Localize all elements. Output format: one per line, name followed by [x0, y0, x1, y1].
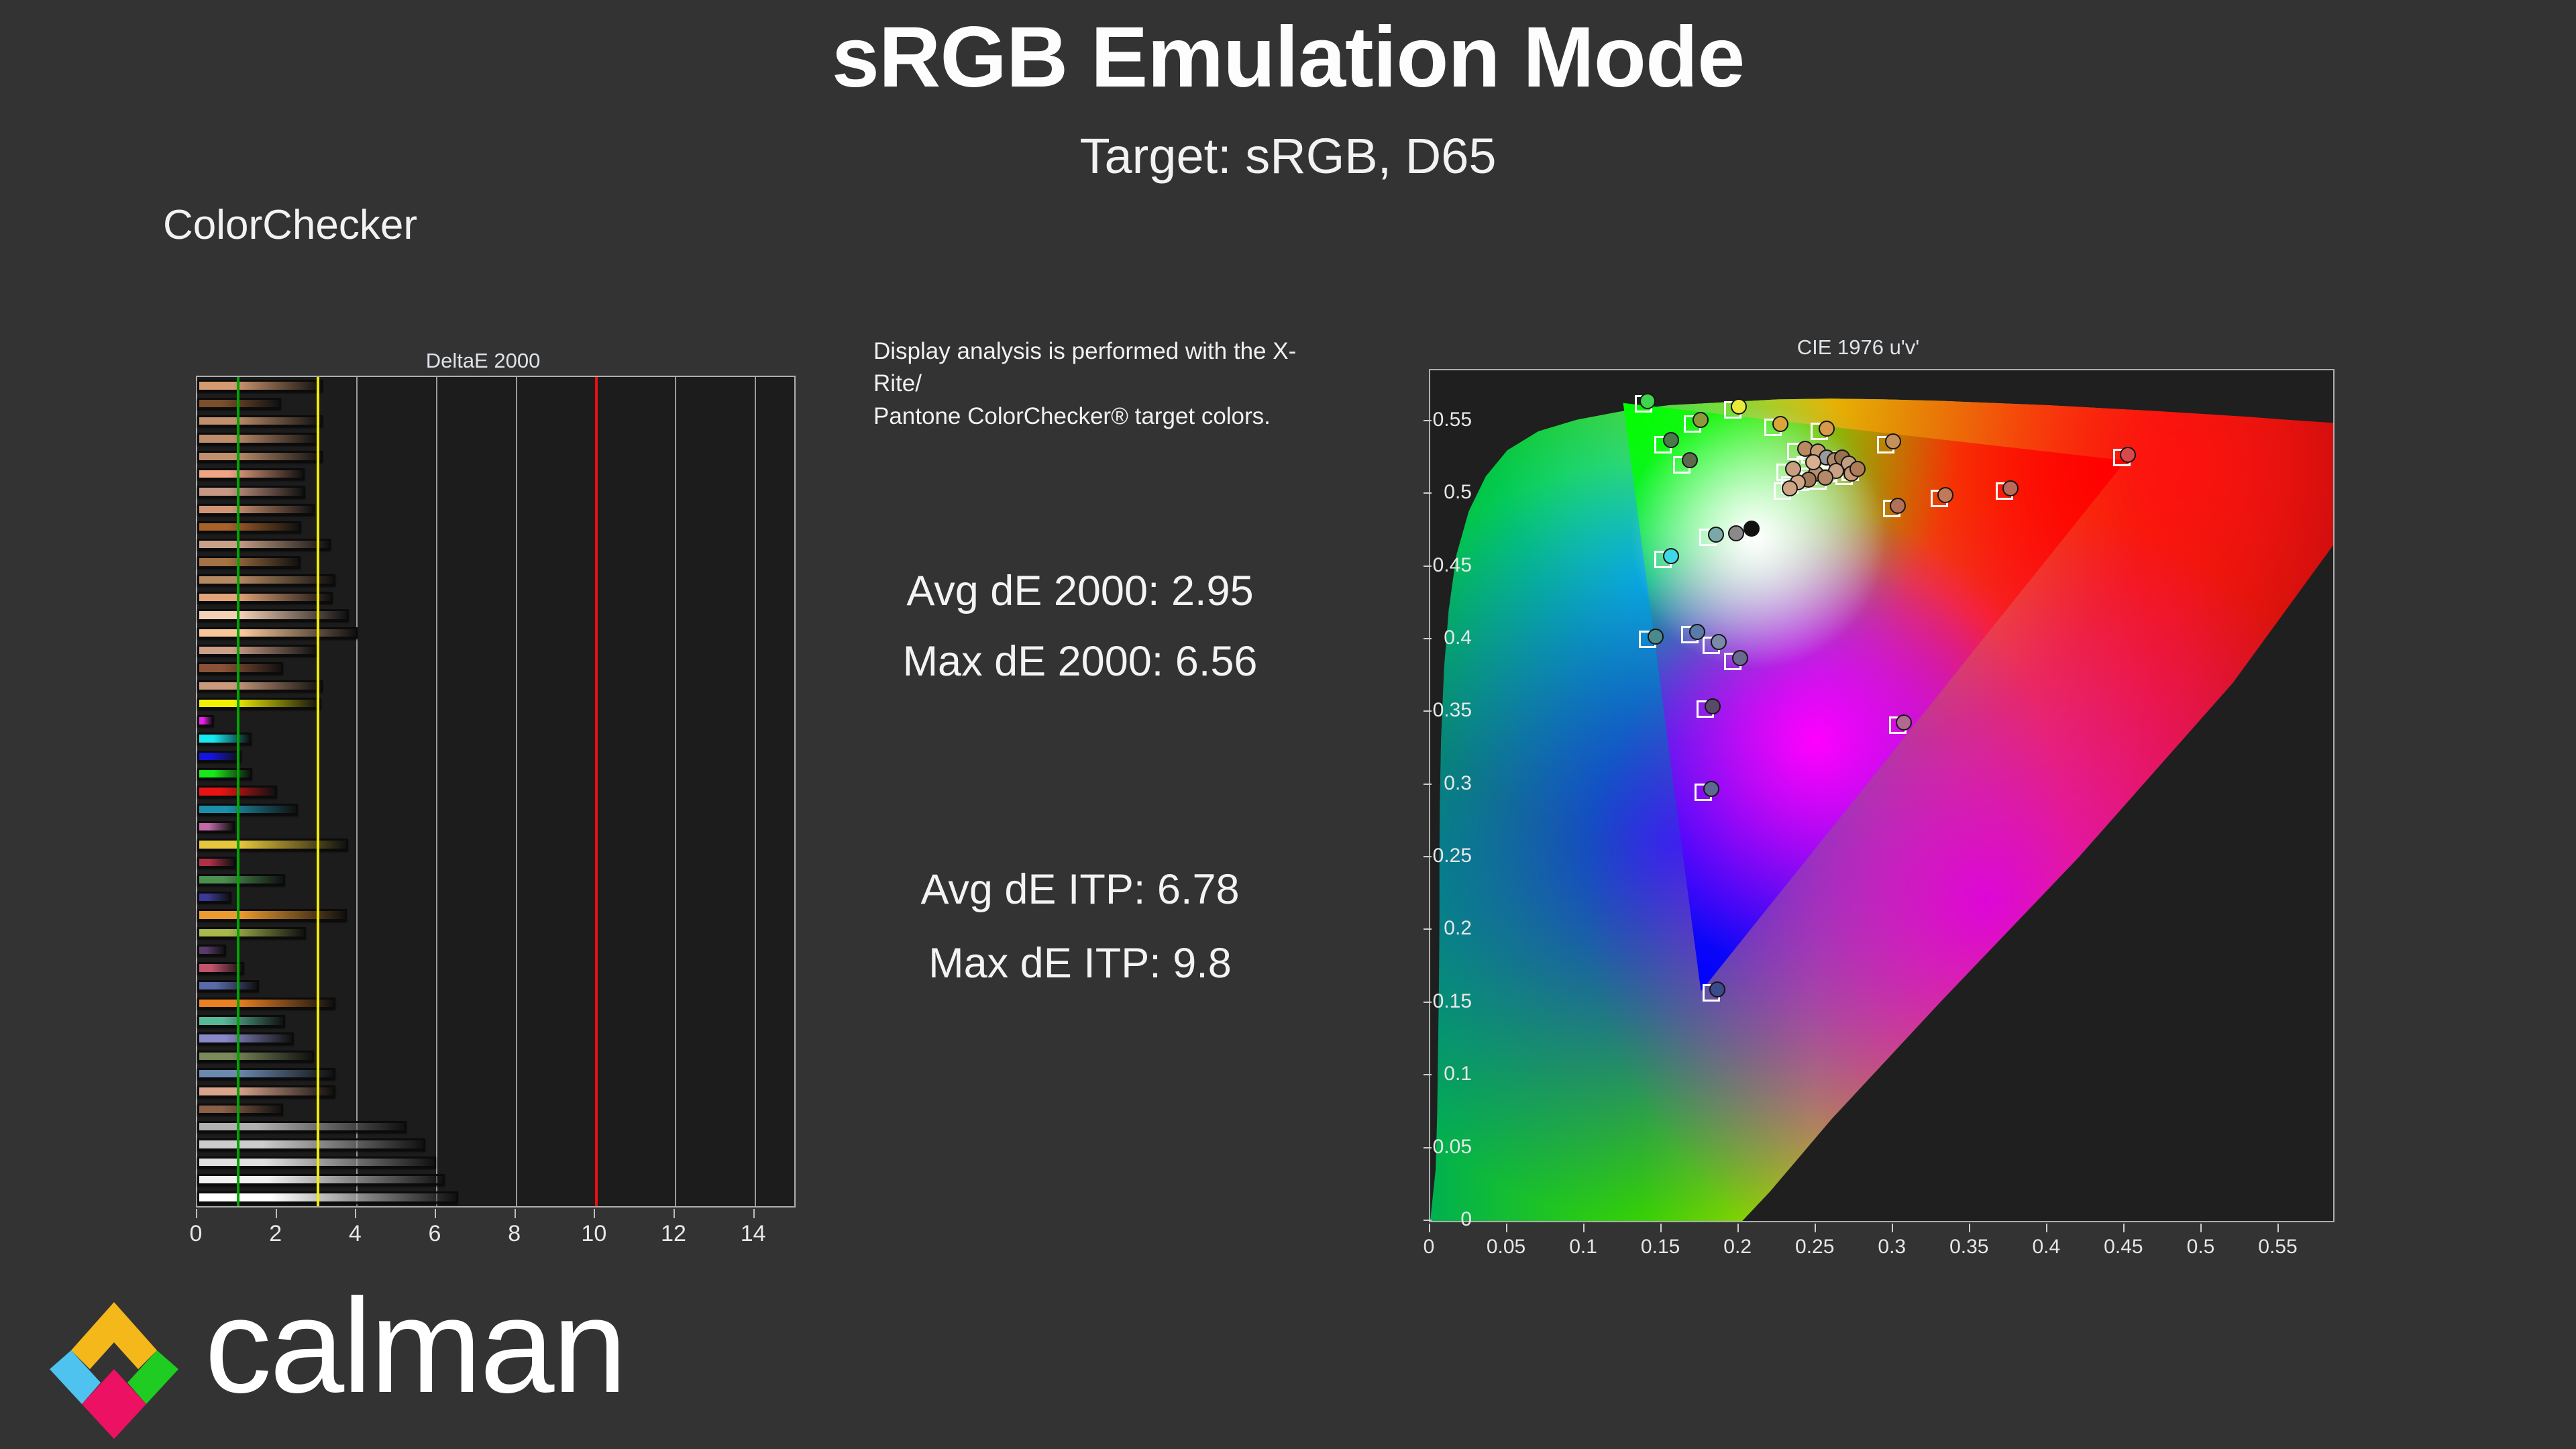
cie-y-axis-tick — [1424, 928, 1432, 930]
deltae-bar — [197, 627, 358, 639]
cie-chart-title: CIE 1976 u'v' — [1382, 335, 2334, 360]
deltae-axis-tick — [196, 1209, 197, 1218]
cie-measurement-point — [1640, 393, 1656, 409]
deltae-bar — [197, 1032, 294, 1044]
deltae-gridline — [516, 377, 517, 1206]
deltae-bar — [197, 539, 331, 550]
deltae-bar — [197, 821, 235, 833]
deltae-gridline — [675, 377, 676, 1206]
cie-y-axis-label: 0.2 — [1444, 917, 1472, 940]
cie-x-axis-tick — [1892, 1224, 1893, 1232]
cie-y-axis-tick — [1424, 784, 1432, 785]
deltae-bar — [197, 556, 301, 568]
deltae-bar — [197, 433, 319, 444]
avg-deitp-stat: Avg dE ITP: 6.78 — [771, 865, 1389, 914]
cie-y-axis-label: 0 — [1460, 1208, 1472, 1231]
deltae-axis-label: 8 — [508, 1221, 521, 1247]
cie-measurement-point — [1648, 629, 1664, 645]
cie-y-axis-tick — [1424, 420, 1432, 421]
deltae-axis-label: 10 — [581, 1221, 606, 1247]
deltae-bar — [197, 1138, 425, 1150]
cie-measurement-point — [1682, 452, 1698, 468]
analysis-note-line1: Display analysis is performed with the X… — [873, 335, 1343, 400]
deltae-bar — [197, 380, 323, 391]
cie-y-axis-tick — [1424, 1074, 1432, 1075]
deltae-bar — [197, 945, 226, 956]
deltae-bar — [197, 662, 283, 674]
cie-x-axis-label: 0.25 — [1795, 1236, 1834, 1258]
deltae-bar — [197, 804, 298, 815]
deltae-bar — [197, 998, 335, 1009]
cie-y-axis-label: 0.5 — [1444, 481, 1472, 504]
deltae-bar — [197, 574, 335, 586]
yellow-threshold — [317, 377, 319, 1206]
avg-de2000-stat: Avg dE 2000: 2.95 — [771, 567, 1389, 615]
deltae-bar — [197, 980, 259, 991]
deltae-chart-title: DeltaE 2000 — [161, 349, 805, 373]
cie-y-axis-label: 0.15 — [1433, 990, 1472, 1013]
deltae-2000-chart: DeltaE 2000 02468101214 — [161, 349, 805, 1241]
deltae-axis-tick — [355, 1209, 356, 1218]
deltae-plot-area — [196, 376, 796, 1207]
deltae-bar — [197, 592, 333, 603]
deltae-bar — [197, 715, 214, 727]
cie-measurement-point — [1782, 480, 1798, 496]
cie-measurement-point — [1728, 525, 1744, 541]
deltae-axis-tick — [515, 1209, 516, 1218]
cie-y-axis-label: 0.1 — [1444, 1063, 1472, 1085]
cie-x-axis-label: 0.45 — [2104, 1236, 2143, 1258]
cie-measurement-point — [1708, 527, 1724, 543]
cie-x-axis-tick — [2046, 1224, 2047, 1232]
colorchecker-section-label: ColorChecker — [163, 201, 417, 249]
cie-y-axis-tick — [1424, 638, 1432, 639]
cie-y-axis-label: 0.25 — [1433, 845, 1472, 867]
deltae-bar — [197, 451, 323, 462]
cie-x-axis-tick — [1583, 1224, 1585, 1232]
deltae-gridline — [356, 377, 358, 1206]
cie-measurement-point — [1785, 461, 1801, 477]
red-threshold — [595, 377, 598, 1206]
deltae-axis-tick — [276, 1209, 277, 1218]
cie-gamut-svg — [1430, 370, 2333, 1221]
cie-measurement-point — [1689, 624, 1705, 640]
deltae-bar — [197, 1121, 407, 1132]
cie-x-axis-tick — [1737, 1224, 1739, 1232]
cie-y-axis-tick — [1424, 492, 1432, 494]
cie-y-axis-tick — [1424, 1147, 1432, 1148]
deltae-bar — [197, 909, 347, 920]
deltae-bar — [197, 521, 301, 533]
deltae-axis-tick — [674, 1209, 675, 1218]
cie-measurement-point — [1896, 714, 1912, 731]
green-threshold — [237, 377, 239, 1206]
cie-x-axis-label: 0.1 — [1569, 1236, 1597, 1258]
max-de2000-stat: Max dE 2000: 6.56 — [771, 637, 1389, 686]
deltae-axis-label: 4 — [349, 1221, 362, 1247]
cie-y-axis-label: 0.35 — [1433, 699, 1472, 722]
cie-y-axis-label: 0.55 — [1433, 409, 1472, 431]
deltae-bar — [197, 680, 323, 692]
cie-measurement-point — [1703, 781, 1719, 797]
deltae-axis-label: 12 — [661, 1221, 686, 1247]
deltae-axis-tick — [594, 1209, 595, 1218]
deltae-axis-label: 2 — [269, 1221, 282, 1247]
cie-x-axis-tick — [1815, 1224, 1816, 1232]
page-title: sRGB Emulation Mode — [0, 15, 2576, 101]
deltae-axis-label: 6 — [429, 1221, 441, 1247]
deltae-axis-tick — [435, 1209, 436, 1218]
deltae-bar — [197, 892, 231, 903]
cie-plot-area — [1429, 369, 2334, 1222]
deltae-bar — [197, 415, 323, 427]
cie-y-axis-tick — [1424, 1002, 1432, 1003]
cie-x-axis-label: 0.3 — [1878, 1236, 1906, 1258]
cie-x-axis-tick — [1506, 1224, 1507, 1232]
cie-x-axis-tick — [2123, 1224, 2125, 1232]
deltae-bar — [197, 486, 305, 497]
deltae-bar — [197, 1015, 285, 1026]
deltae-gridline — [436, 377, 437, 1206]
deltae-bar — [197, 698, 321, 709]
cie-measurement-point — [1805, 454, 1821, 470]
cie-x-axis-tick — [2200, 1224, 2202, 1232]
deltae-bar — [197, 857, 236, 868]
deltae-bar — [197, 751, 241, 762]
cie-measurement-point — [1819, 421, 1835, 437]
deltae-axis-label: 14 — [741, 1221, 766, 1247]
page-subtitle: Target: sRGB, D65 — [0, 131, 2576, 181]
cie-x-axis-label: 0.5 — [2187, 1236, 2215, 1258]
cie-y-axis-tick — [1424, 1220, 1432, 1221]
deltae-bar — [197, 1104, 283, 1115]
analysis-note: Display analysis is performed with the X… — [873, 335, 1343, 433]
deltae-bar — [197, 1068, 335, 1079]
cie-y-axis-tick — [1424, 856, 1432, 857]
deltae-bar — [197, 839, 348, 850]
deltae-bar — [197, 927, 306, 938]
deltae-x-axis: 02468101214 — [196, 1209, 796, 1210]
deltae-axis-label: 0 — [190, 1221, 203, 1247]
cie-y-axis-label: 0.4 — [1444, 627, 1472, 649]
cie-y-axis-label: 0.05 — [1433, 1136, 1472, 1159]
cie-measurement-point — [1890, 498, 1906, 514]
deltae-bar — [197, 768, 252, 780]
cie-x-axis-label: 0.35 — [1949, 1236, 1988, 1258]
cie-x-axis-label: 0.15 — [1641, 1236, 1680, 1258]
cie-x-axis-label: 0.2 — [1723, 1236, 1752, 1258]
calman-logo-text: calman — [205, 1279, 625, 1413]
cie-x-axis-label: 0.05 — [1487, 1236, 1525, 1258]
cie-x-axis-tick — [1969, 1224, 1970, 1232]
cie-y-axis-label: 0.45 — [1433, 554, 1472, 577]
deltae-bar — [197, 1085, 335, 1097]
analysis-note-line2: Pantone ColorChecker® target colors. — [873, 400, 1343, 433]
deltae-bar — [197, 1051, 314, 1062]
cie-y-axis-label: 0.3 — [1444, 772, 1472, 795]
deltae-gridline — [755, 377, 756, 1206]
cie-measurement-point — [1743, 521, 1760, 537]
deltae-bar — [197, 504, 315, 515]
cie-x-axis-label: 0.4 — [2032, 1236, 2060, 1258]
cie-y-axis-tick — [1424, 710, 1432, 712]
cie-measurement-point — [1705, 698, 1721, 714]
cie-x-axis-tick — [2277, 1224, 2279, 1232]
cie-measurement-point — [2120, 447, 2136, 463]
calman-logo: calman — [34, 1291, 704, 1439]
cie-y-axis-tick — [1424, 566, 1432, 567]
cie-measurement-point — [1663, 432, 1679, 448]
cie-x-axis-label: 0.55 — [2258, 1236, 2297, 1258]
cie-1976-chart: CIE 1976 u'v' 00.050.10.150.20.250.30.35… — [1382, 335, 2388, 1248]
cie-x-axis-tick — [1660, 1224, 1662, 1232]
calman-diamond-icon — [34, 1291, 195, 1439]
deltae-bar — [197, 609, 349, 621]
cie-measurement-point — [1693, 412, 1709, 428]
deltae-bar — [197, 733, 252, 744]
deltae-bar — [197, 468, 305, 480]
deltae-bar — [197, 874, 285, 885]
cie-measurement-point — [2002, 480, 2019, 496]
max-deitp-stat: Max dE ITP: 9.8 — [771, 939, 1389, 987]
deltae-bar — [197, 1174, 445, 1185]
deltae-axis-tick — [753, 1209, 755, 1218]
deltae-bar — [197, 645, 318, 656]
cie-x-axis-tick — [1429, 1224, 1430, 1232]
cie-x-axis-label: 0 — [1424, 1236, 1435, 1258]
